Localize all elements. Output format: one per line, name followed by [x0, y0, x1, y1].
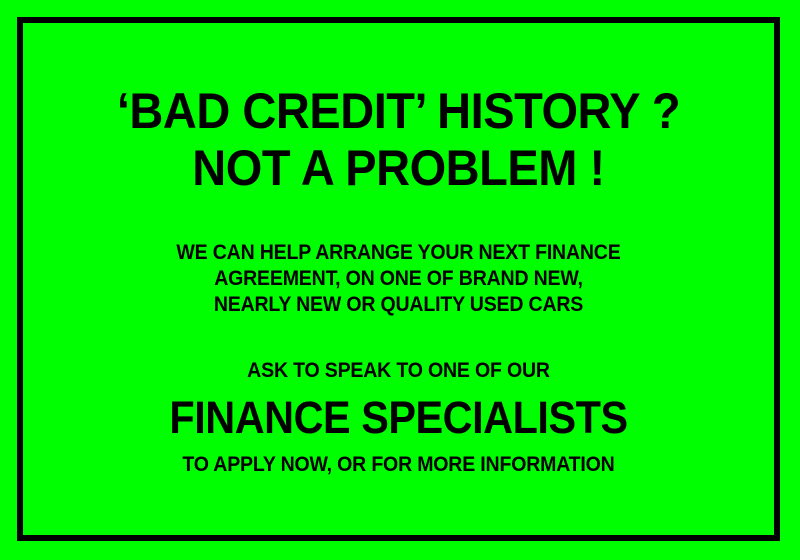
body-line-2: AGREEMENT, ON ONE OF BRAND NEW,: [49, 266, 747, 292]
cta-lead-in-text: ASK TO SPEAK TO ONE OF OUR: [49, 358, 747, 384]
call-to-action-block: ASK TO SPEAK TO ONE OF OUR FINANCE SPECI…: [23, 358, 774, 478]
headline-line-2: NOT A PROBLEM !: [46, 141, 752, 196]
poster-border-frame: ‘BAD CREDIT’ HISTORY ? NOT A PROBLEM ! W…: [17, 17, 780, 541]
body-line-3: NEARLY NEW OR QUALITY USED CARS: [49, 292, 747, 318]
cta-main-heading: FINANCE SPECIALISTS: [53, 392, 744, 444]
headline-line-1: ‘BAD CREDIT’ HISTORY ?: [46, 84, 752, 139]
headline-block: ‘BAD CREDIT’ HISTORY ? NOT A PROBLEM !: [23, 84, 774, 196]
body-line-1: WE CAN HELP ARRANGE YOUR NEXT FINANCE: [49, 240, 747, 266]
poster-content: ‘BAD CREDIT’ HISTORY ? NOT A PROBLEM ! W…: [23, 23, 774, 535]
cta-footer-text: TO APPLY NOW, OR FOR MORE INFORMATION: [49, 452, 747, 478]
body-copy-block: WE CAN HELP ARRANGE YOUR NEXT FINANCE AG…: [23, 240, 774, 318]
finance-advert-poster: ‘BAD CREDIT’ HISTORY ? NOT A PROBLEM ! W…: [0, 0, 800, 560]
